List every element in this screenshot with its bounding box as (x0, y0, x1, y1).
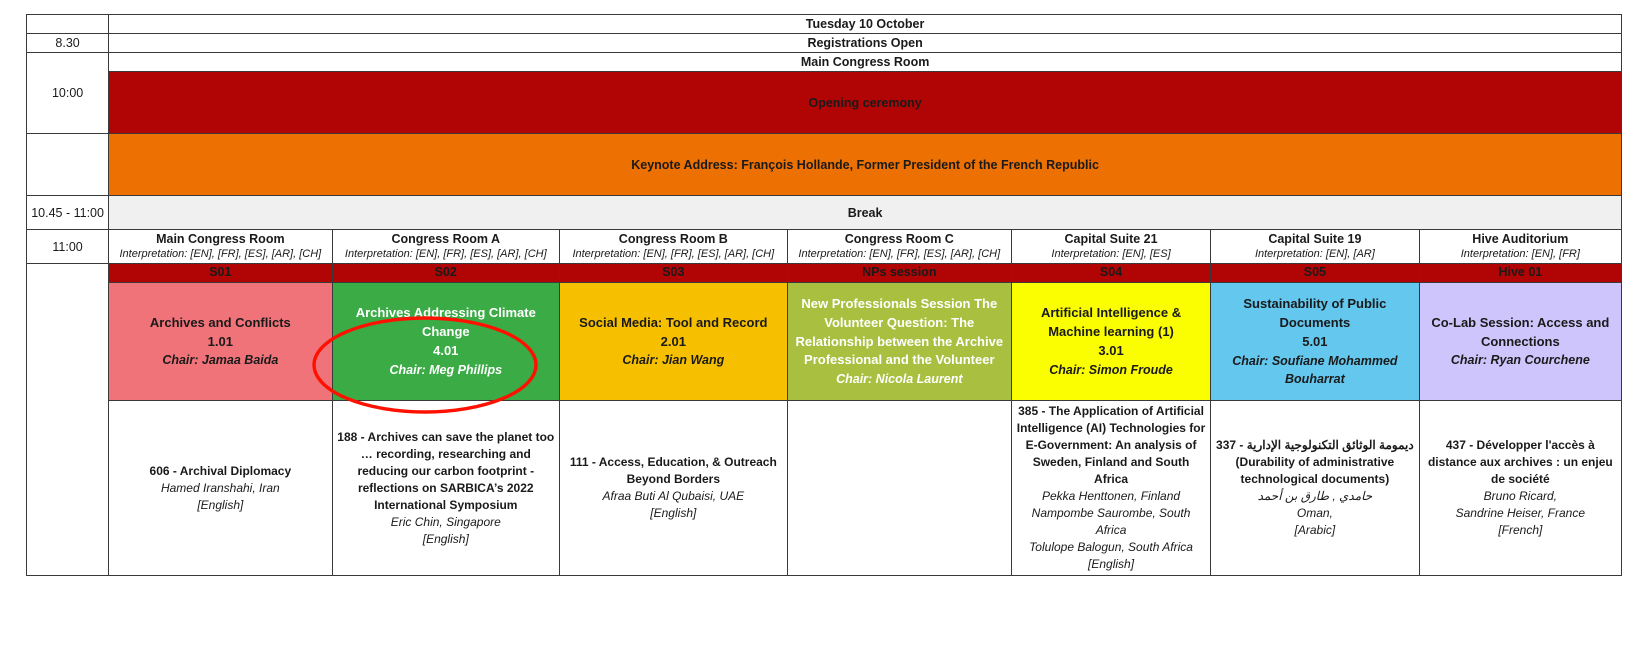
paper-title: 337 - ديمومة الوثائق التكنولوجية الإداري… (1214, 437, 1416, 488)
room-interpretation: Interpretation: [EN], [FR], [ES], [AR], … (112, 248, 328, 262)
paper-author: Nampombe Saurombe, South Africa (1015, 505, 1207, 539)
session-block-s04[interactable]: Artificial Intelligence & Machine learni… (1011, 283, 1210, 401)
schedule-page: Tuesday 10 October 8.30 Registrations Op… (0, 0, 1650, 648)
plenary-room-label: Main Congress Room (109, 53, 1622, 72)
paper-language: [English] (1015, 556, 1207, 573)
room-header-capital-suite-19: Capital Suite 19 Interpretation: [EN], [… (1211, 230, 1420, 264)
time-cell-registrations: 8.30 (27, 34, 109, 53)
session-chair: Chair: Jamaa Baida (112, 351, 328, 369)
session-id-s05: S05 (1211, 264, 1420, 283)
paper-language: [English] (336, 531, 557, 548)
conference-schedule-table: Tuesday 10 October 8.30 Registrations Op… (26, 14, 1622, 576)
session-code: 3.01 (1015, 342, 1207, 361)
session-code: 5.01 (1214, 333, 1416, 352)
paper-language: [English] (563, 505, 784, 522)
time-cell-plenary: 10:00 (27, 53, 109, 134)
paper-author: حامدي , طارق بن أحمد (1214, 488, 1416, 505)
session-block-nps[interactable]: New Professionals Session The Volunteer … (787, 283, 1011, 401)
paper-language: [English] (112, 497, 328, 514)
paper-author: Bruno Ricard, (1423, 488, 1618, 505)
session-id-hive01: Hive 01 (1419, 264, 1621, 283)
paper-cell-s03[interactable]: 111 - Access, Education, & Outreach Beyo… (560, 401, 788, 576)
session-block-s05[interactable]: Sustainability of Public Documents 5.01 … (1211, 283, 1420, 401)
keynote-row: Keynote Address: François Hollande, Form… (27, 134, 1622, 196)
paper-author: Oman, (1214, 505, 1416, 522)
day-header-row: Tuesday 10 October (27, 15, 1622, 34)
paper-cell-s01[interactable]: 606 - Archival Diplomacy Hamed Iranshahi… (109, 401, 332, 576)
session-title: Social Media: Tool and Record (563, 314, 784, 333)
session-id-s03: S03 (560, 264, 788, 283)
room-header-congress-room-a: Congress Room A Interpretation: [EN], [F… (332, 230, 560, 264)
registrations-row: 8.30 Registrations Open (27, 34, 1622, 53)
session-block-s01[interactable]: Archives and Conflicts 1.01 Chair: Jamaa… (109, 283, 332, 401)
registrations-label: Registrations Open (109, 34, 1622, 53)
session-title: Sustainability of Public Documents (1214, 295, 1416, 333)
time-cell-sessions-spacer (27, 264, 109, 576)
room-interpretation: Interpretation: [EN], [FR], [ES], [AR], … (563, 248, 784, 262)
session-block-s02[interactable]: Archives Addressing Climate Change 4.01 … (332, 283, 560, 401)
session-code: 4.01 (336, 342, 557, 361)
room-interpretation: Interpretation: [EN], [AR] (1214, 248, 1416, 262)
session-block-s03[interactable]: Social Media: Tool and Record 2.01 Chair… (560, 283, 788, 401)
room-name: Congress Room A (336, 232, 557, 248)
keynote-block: Keynote Address: François Hollande, Form… (109, 134, 1622, 196)
opening-ceremony-row: Opening ceremony (27, 72, 1622, 134)
paper-cell-nps[interactable] (787, 401, 1011, 576)
room-name: Congress Room B (563, 232, 784, 248)
page-title: Tuesday 10 October (109, 15, 1622, 34)
room-interpretation: Interpretation: [EN], [ES] (1015, 248, 1207, 262)
time-cell-sessions: 11:00 (27, 230, 109, 264)
session-title: Co-Lab Session: Access and Connections (1423, 314, 1618, 352)
session-chair: Chair: Ryan Courchene (1423, 351, 1618, 369)
room-interpretation: Interpretation: [EN], [FR] (1423, 248, 1618, 262)
paper-author: Eric Chin, Singapore (336, 514, 557, 531)
room-header-row: 11:00 Main Congress Room Interpretation:… (27, 230, 1622, 264)
room-header-main-congress-room: Main Congress Room Interpretation: [EN],… (109, 230, 332, 264)
session-code: 1.01 (112, 333, 328, 352)
room-name: Main Congress Room (112, 232, 328, 248)
paper-title: 385 - The Application of Artificial Inte… (1015, 403, 1207, 488)
paper-cell-s02[interactable]: 188 - Archives can save the planet too …… (332, 401, 560, 576)
time-cell-break: 10.45 - 11:00 (27, 196, 109, 230)
room-header-hive-auditorium: Hive Auditorium Interpretation: [EN], [F… (1419, 230, 1621, 264)
session-title: Archives Addressing Climate Change (336, 304, 557, 342)
room-header-congress-room-b: Congress Room B Interpretation: [EN], [F… (560, 230, 788, 264)
room-name: Hive Auditorium (1423, 232, 1618, 248)
session-title: Archives and Conflicts (112, 314, 328, 333)
paper-detail-row: 606 - Archival Diplomacy Hamed Iranshahi… (27, 401, 1622, 576)
paper-author: Pekka Henttonen, Finland (1015, 488, 1207, 505)
session-id-s01: S01 (109, 264, 332, 283)
session-chair: Chair: Jian Wang (563, 351, 784, 369)
plenary-room-row: 10:00 Main Congress Room (27, 53, 1622, 72)
room-interpretation: Interpretation: [EN], [FR], [ES], [AR], … (791, 248, 1008, 262)
paper-author: Hamed Iranshahi, Iran (112, 480, 328, 497)
paper-title: 606 - Archival Diplomacy (112, 463, 328, 480)
paper-language: [Arabic] (1214, 522, 1416, 539)
room-name: Capital Suite 19 (1214, 232, 1416, 248)
room-name: Congress Room C (791, 232, 1008, 248)
session-chair: Chair: Soufiane Mohammed Bouharrat (1214, 352, 1416, 388)
session-block-hive01[interactable]: Co-Lab Session: Access and Connections C… (1419, 283, 1621, 401)
session-title: New Professionals Session The Volunteer … (791, 295, 1008, 370)
session-title: Artificial Intelligence & Machine learni… (1015, 304, 1207, 342)
break-block: Break (109, 196, 1622, 230)
paper-title: 437 - Développer l'accès à distance aux … (1423, 437, 1618, 488)
session-chair: Chair: Nicola Laurent (791, 370, 1008, 388)
paper-author: Tolulope Balogun, South Africa (1015, 539, 1207, 556)
paper-author: Afraa Buti Al Qubaisi, UAE (563, 488, 784, 505)
break-row: 10.45 - 11:00 Break (27, 196, 1622, 230)
session-id-s04: S04 (1011, 264, 1210, 283)
room-header-capital-suite-21: Capital Suite 21 Interpretation: [EN], [… (1011, 230, 1210, 264)
time-cell-keynote (27, 134, 109, 196)
time-cell-empty (27, 15, 109, 34)
session-chair: Chair: Simon Froude (1015, 361, 1207, 379)
room-header-congress-room-c: Congress Room C Interpretation: [EN], [F… (787, 230, 1011, 264)
session-code: 2.01 (563, 333, 784, 352)
session-id-s02: S02 (332, 264, 560, 283)
paper-cell-s04[interactable]: 385 - The Application of Artificial Inte… (1011, 401, 1210, 576)
session-id-nps: NPs session (787, 264, 1011, 283)
session-title-row: Archives and Conflicts 1.01 Chair: Jamaa… (27, 283, 1622, 401)
room-interpretation: Interpretation: [EN], [FR], [ES], [AR], … (336, 248, 557, 262)
paper-title: 188 - Archives can save the planet too …… (336, 429, 557, 514)
paper-language: [French] (1423, 522, 1618, 539)
session-id-row: S01 S02 S03 NPs session S04 S05 Hive 01 (27, 264, 1622, 283)
paper-author: Sandrine Heiser, France (1423, 505, 1618, 522)
paper-title: 111 - Access, Education, & Outreach Beyo… (563, 454, 784, 488)
paper-cell-hive01[interactable]: 437 - Développer l'accès à distance aux … (1419, 401, 1621, 576)
room-name: Capital Suite 21 (1015, 232, 1207, 248)
opening-ceremony-block: Opening ceremony (109, 72, 1622, 134)
paper-cell-s05[interactable]: 337 - ديمومة الوثائق التكنولوجية الإداري… (1211, 401, 1420, 576)
session-chair: Chair: Meg Phillips (336, 361, 557, 379)
